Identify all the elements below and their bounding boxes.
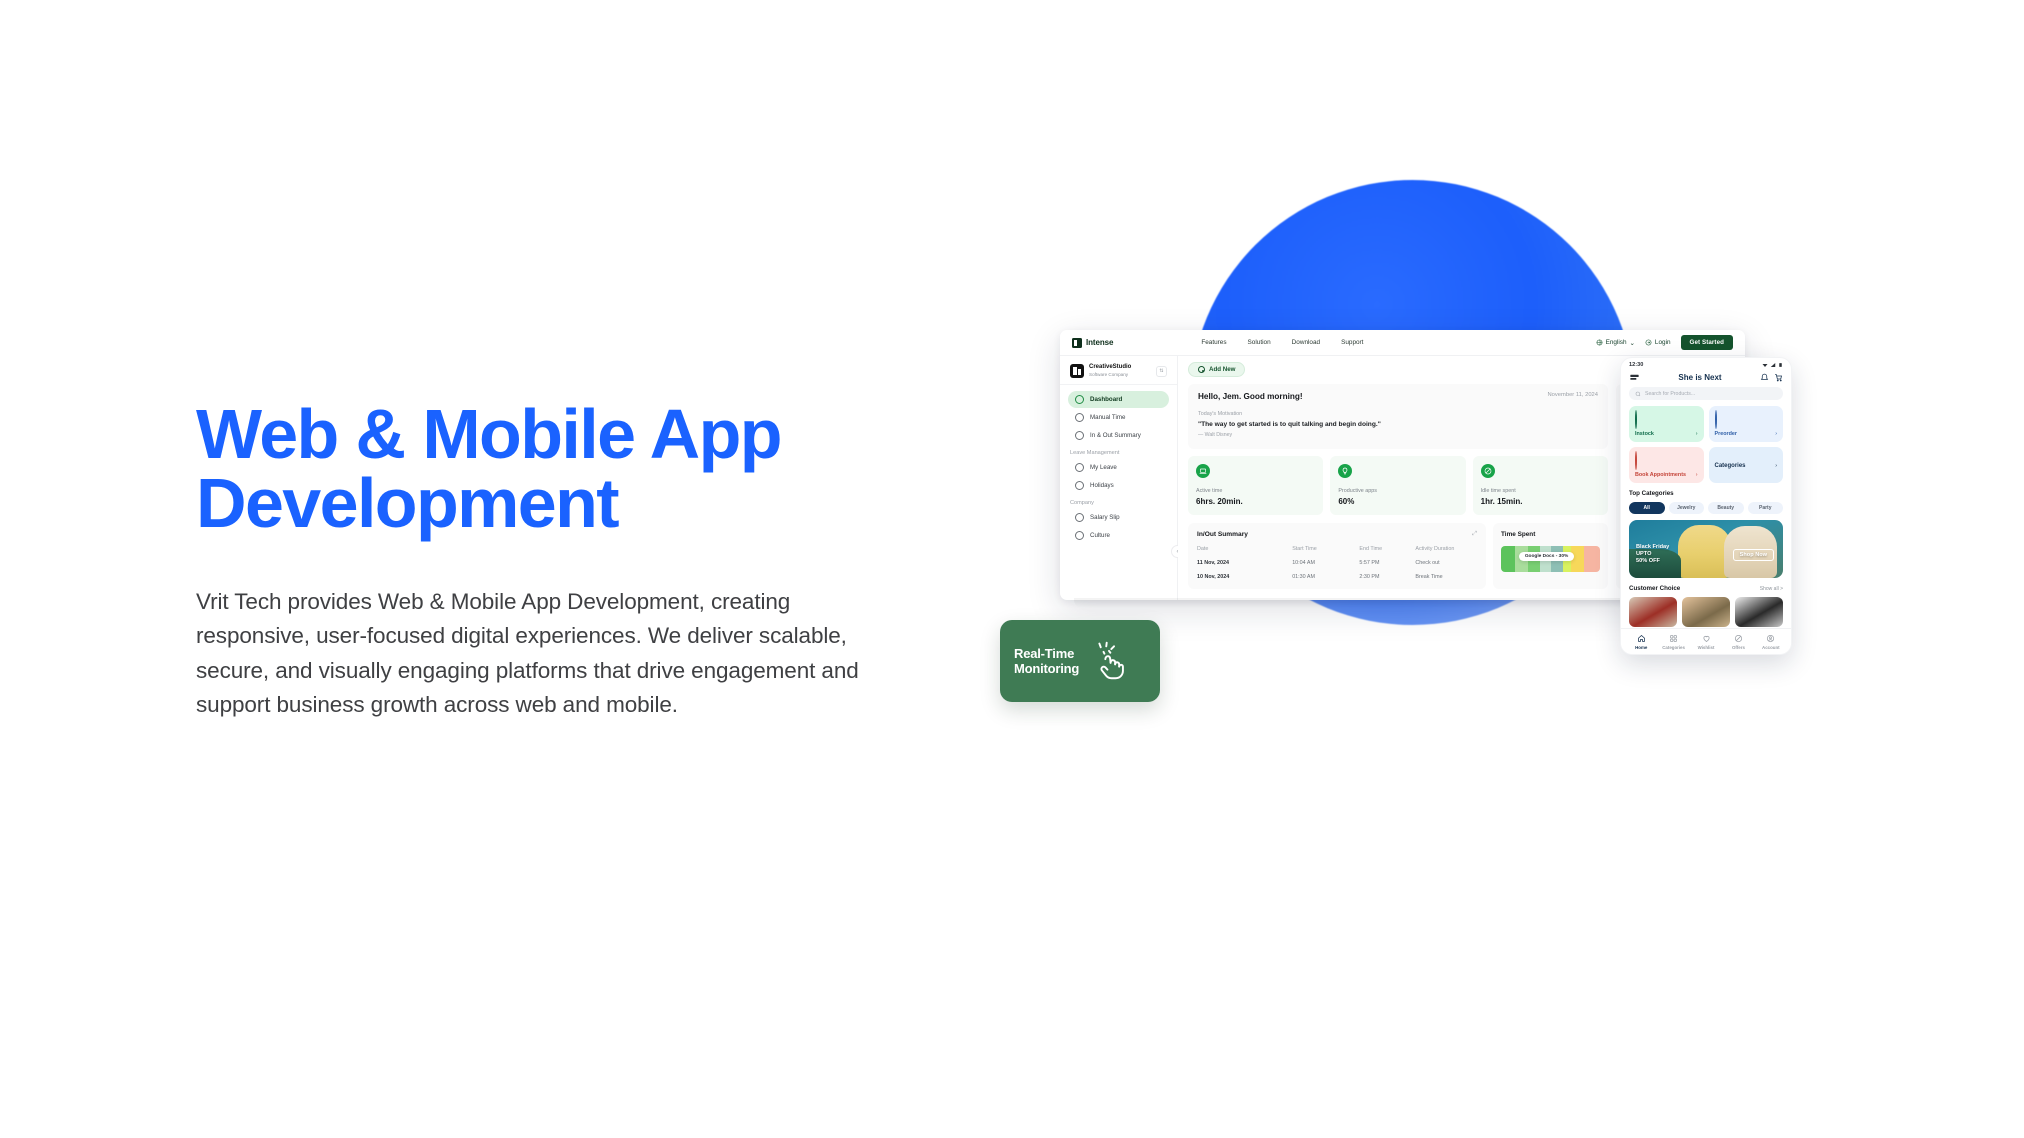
nav-link-support[interactable]: Support — [1341, 339, 1363, 346]
expand-icon[interactable]: ⤢ — [1472, 531, 1477, 538]
home-icon — [1637, 634, 1646, 643]
sidebar-item-manual-time[interactable]: Manual Time — [1068, 409, 1169, 426]
tile-categories[interactable]: Categories › — [1709, 447, 1784, 483]
chip-jewelry[interactable]: Jewelry — [1669, 502, 1705, 514]
sidebar-item-dashboard[interactable]: Dashboard — [1068, 391, 1169, 408]
globe-icon — [1075, 481, 1084, 490]
wifi-icon — [1762, 362, 1768, 368]
time-spent-segment-7 — [1584, 546, 1600, 572]
phone-status-bar: 12:30 — [1621, 358, 1791, 370]
cell-end-time: 5:57 PM — [1359, 560, 1415, 566]
customer-choice-title: Customer Choice — [1629, 585, 1680, 592]
shop-now-button[interactable]: Shop Now — [1733, 549, 1774, 561]
time-spent-title: Time Spent — [1501, 531, 1600, 538]
cell-start-time: 01:30 AM — [1292, 574, 1359, 580]
chevron-right-icon: › — [1775, 463, 1777, 469]
time-spent-segment-0 — [1501, 546, 1515, 572]
phone-app-header: She is Next — [1621, 370, 1791, 387]
chevron-right-icon: › — [1775, 431, 1777, 437]
sidebar-item-label: Holidays — [1090, 482, 1114, 489]
column-end-time: End Time — [1359, 546, 1415, 552]
pause-icon — [1481, 464, 1495, 478]
metric-value: 6hrs. 20min. — [1196, 497, 1315, 506]
sidebar-item-label: In & Out Summary — [1090, 432, 1141, 439]
sidebar-group-company: Company — [1070, 500, 1169, 506]
chip-all[interactable]: All — [1629, 502, 1665, 514]
page-root: Web & Mobile App Development Vrit Tech p… — [0, 0, 2024, 1138]
cell-start-time: 10:04 AM — [1292, 560, 1359, 566]
cell-activity: Check out — [1415, 560, 1477, 566]
cell-activity: Break Time — [1415, 574, 1477, 580]
search-input[interactable]: Search for Products... — [1629, 387, 1783, 400]
divider — [1060, 384, 1177, 385]
greeting-card: Hello, Jem. Good morning! November 11, 2… — [1188, 384, 1608, 449]
greeting-title: Hello, Jem. Good morning! — [1198, 392, 1303, 401]
cell-date: 11 Nov, 2024 — [1197, 560, 1292, 566]
dashboard-left-column: Hello, Jem. Good morning! November 11, 2… — [1188, 384, 1608, 589]
page-title: Web & Mobile App Development — [196, 400, 956, 537]
globe-icon — [1596, 339, 1603, 346]
org-name: CreativeStudio — [1089, 364, 1131, 372]
metric-label: Idle time spent — [1481, 488, 1600, 494]
nav-item-account[interactable]: Account — [1755, 634, 1787, 650]
greeting-date: November 11, 2024 — [1548, 392, 1599, 398]
top-categories-title: Top Categories — [1621, 483, 1791, 497]
metric-card-active-time: Active time 6hrs. 20min. — [1188, 456, 1323, 515]
chevron-updown-icon[interactable]: ⇅ — [1156, 366, 1167, 377]
clock-icon — [1075, 413, 1084, 422]
plus-circle-icon — [1198, 366, 1205, 373]
add-new-label: Add New — [1209, 366, 1235, 373]
status-icons — [1762, 362, 1783, 368]
product-thumb-bag[interactable] — [1629, 597, 1677, 627]
metric-label: Productive apps — [1338, 488, 1457, 494]
sidebar-item-my-leave[interactable]: My Leave — [1068, 459, 1169, 476]
banner-text: Black Friday UPTO 50% OFF — [1636, 544, 1669, 565]
motivation-quote: "The way to get started is to quit talki… — [1198, 421, 1598, 428]
nav-link-features[interactable]: Features — [1201, 339, 1226, 346]
nav-item-wishlist[interactable]: Wishlist — [1690, 634, 1722, 650]
battery-icon — [1778, 362, 1783, 368]
column-date: Date — [1197, 546, 1292, 552]
login-button[interactable]: Login — [1645, 339, 1671, 346]
nav-right: English ⌄ Login Get Started — [1596, 335, 1733, 350]
metric-cards: Active time 6hrs. 20min. Productive apps… — [1188, 456, 1608, 515]
hero-visual: Intense Features Solution Download Suppo… — [1060, 150, 1980, 870]
laptop-icon — [1196, 464, 1210, 478]
brand-name: Intense — [1086, 338, 1113, 347]
calendar-icon — [1075, 513, 1084, 522]
badge-line-1: Real-Time — [1014, 646, 1074, 661]
hero-copy: Web & Mobile App Development Vrit Tech p… — [196, 400, 956, 722]
cell-end-time: 2:30 PM — [1359, 574, 1415, 580]
dashboard-lower-row: In/Out Summary ⤢ Date Start Time End Tim… — [1188, 523, 1608, 589]
tile-instock[interactable]: Instock › — [1629, 406, 1704, 442]
nav-label: Home — [1635, 645, 1647, 650]
tile-label: Preorder — [1715, 431, 1737, 437]
chevron-down-icon: ⌄ — [1630, 339, 1635, 347]
quick-action-tiles: Instock › Preorder › Book Appointments ›… — [1621, 400, 1791, 483]
banner-line-2: UPTO — [1636, 551, 1651, 557]
table-row: 10 Nov, 2024 01:30 AM 2:30 PM Break Time — [1197, 574, 1477, 580]
nav-link-download[interactable]: Download — [1292, 339, 1320, 346]
tile-book-appointments[interactable]: Book Appointments › — [1629, 447, 1704, 483]
sidebar-item-label: Culture — [1090, 532, 1110, 539]
banner-line-3: 50% OFF — [1636, 558, 1660, 564]
time-spent-card: Time Spent Google Docs - 30% — [1493, 523, 1608, 589]
column-start-time: Start Time — [1292, 546, 1359, 552]
language-selector[interactable]: English ⌄ — [1596, 339, 1635, 347]
sidebar-item-label: Salary Slip — [1090, 514, 1120, 521]
product-thumb-earring[interactable] — [1682, 597, 1730, 627]
globe-icon — [1075, 531, 1084, 540]
metric-card-productive-apps: Productive apps 60% — [1330, 456, 1465, 515]
search-placeholder: Search for Products... — [1645, 391, 1695, 397]
table-header-row: Date Start Time End Time Activity Durati… — [1197, 546, 1477, 552]
login-label: Login — [1655, 339, 1671, 346]
in-out-title: In/Out Summary — [1197, 531, 1248, 538]
org-logo-icon — [1070, 364, 1084, 378]
metric-card-idle-time: Idle time spent 1hr. 15min. — [1473, 456, 1608, 515]
motivation-author: — Walt Disney — [1198, 432, 1598, 438]
menu-logo-icon[interactable] — [1629, 372, 1640, 383]
cart-icon[interactable] — [1774, 373, 1783, 382]
hero-title-line-1: Web & Mobile App — [196, 395, 781, 473]
dashboard-sidebar: CreativeStudio Software Company ⇅ Dashbo… — [1060, 356, 1178, 600]
sidebar-group-leave: Leave Management — [1070, 450, 1169, 456]
sidebar-item-holidays[interactable]: Holidays — [1068, 477, 1169, 494]
time-spent-tooltip: Google Docs - 30% — [1519, 552, 1574, 561]
product-thumb-dress[interactable] — [1735, 597, 1783, 627]
nav-item-categories[interactable]: Categories — [1657, 634, 1689, 650]
add-new-button[interactable]: Add New — [1188, 362, 1245, 377]
hero-description: Vrit Tech provides Web & Mobile App Deve… — [196, 585, 896, 722]
user-check-icon — [1075, 431, 1084, 440]
org-switcher[interactable]: CreativeStudio Software Company ⇅ — [1068, 362, 1169, 384]
sidebar-item-culture[interactable]: Culture — [1068, 527, 1169, 544]
sidebar-item-in-out-summary[interactable]: In & Out Summary — [1068, 427, 1169, 444]
tile-label: Book Appointments — [1635, 472, 1686, 478]
nav-item-home[interactable]: Home — [1625, 634, 1657, 650]
nav-links: Features Solution Download Support — [1201, 339, 1363, 346]
signal-icon — [1770, 362, 1776, 368]
table-row: 11 Nov, 2024 10:04 AM 5:57 PM Check out — [1197, 560, 1477, 566]
bulb-icon — [1338, 464, 1352, 478]
customer-choice-header: Customer Choice Show all > — [1621, 578, 1791, 592]
heart-icon — [1702, 634, 1711, 643]
motivation-label: Today's Motivation — [1198, 411, 1598, 417]
nav-label: Offers — [1732, 645, 1745, 650]
bottom-navigation: Home Categories Wishlist Offers Account — [1621, 628, 1791, 654]
tile-label: Categories — [1715, 463, 1746, 469]
dashboard-navbar: Intense Features Solution Download Suppo… — [1060, 330, 1745, 356]
get-started-button[interactable]: Get Started — [1681, 335, 1733, 350]
user-icon — [1766, 634, 1775, 643]
org-subtitle: Software Company — [1089, 372, 1131, 378]
search-icon — [1635, 391, 1641, 397]
phone-header-icons — [1760, 373, 1783, 382]
sidebar-item-label: Dashboard — [1090, 396, 1122, 403]
hero-title-line-2: Development — [196, 469, 956, 538]
cell-date: 10 Nov, 2024 — [1197, 574, 1292, 580]
app-title: She is Next — [1678, 373, 1721, 382]
metric-value: 60% — [1338, 497, 1457, 506]
tile-preorder[interactable]: Preorder › — [1709, 406, 1784, 442]
category-chips: All Jewelry Beauty Party — [1621, 497, 1791, 514]
login-icon — [1645, 339, 1652, 346]
real-time-monitoring-badge: Real-Time Monitoring — [1000, 620, 1160, 702]
real-time-monitoring-label: Real-Time Monitoring — [1014, 646, 1079, 677]
nav-link-solution[interactable]: Solution — [1248, 339, 1271, 346]
sidebar-item-label: Manual Time — [1090, 414, 1125, 421]
mobile-app-mockup: 12:30 She is Next Search for Products... — [1620, 357, 1792, 655]
sidebar-item-label: My Leave — [1090, 464, 1117, 471]
banner-model-1 — [1678, 525, 1730, 578]
home-icon — [1075, 395, 1084, 404]
show-all-link[interactable]: Show all > — [1760, 586, 1783, 592]
banner-line-1: Black Friday — [1636, 544, 1669, 550]
badge-line-2: Monitoring — [1014, 661, 1079, 676]
check-circle-icon — [1635, 410, 1637, 429]
nav-label: Wishlist — [1698, 645, 1715, 650]
offer-icon — [1734, 634, 1743, 643]
nav-item-offers[interactable]: Offers — [1722, 634, 1754, 650]
sidebar-item-salary-slip[interactable]: Salary Slip — [1068, 509, 1169, 526]
language-label: English — [1606, 339, 1627, 346]
chevron-right-icon: › — [1696, 472, 1698, 478]
brand[interactable]: Intense — [1072, 338, 1113, 348]
tile-label: Instock — [1635, 431, 1654, 437]
brand-logo-icon — [1072, 338, 1082, 348]
calendar-icon — [1075, 463, 1084, 472]
in-out-summary-card: In/Out Summary ⤢ Date Start Time End Tim… — [1188, 523, 1486, 589]
promo-banner[interactable]: Black Friday UPTO 50% OFF Shop Now — [1629, 520, 1783, 578]
nav-label: Account — [1762, 645, 1780, 650]
calendar-icon — [1635, 451, 1637, 470]
nav-label: Categories — [1662, 645, 1685, 650]
chip-beauty[interactable]: Beauty — [1708, 502, 1744, 514]
box-icon — [1715, 410, 1717, 429]
bell-icon[interactable] — [1760, 373, 1769, 382]
snapping-fingers-icon — [1087, 639, 1131, 683]
grid-icon — [1669, 634, 1678, 643]
chevron-right-icon: › — [1696, 431, 1698, 437]
metric-value: 1hr. 15min. — [1481, 497, 1600, 506]
chip-party[interactable]: Party — [1748, 502, 1784, 514]
time-spent-bar: Google Docs - 30% — [1501, 546, 1600, 572]
status-time: 12:30 — [1629, 362, 1643, 368]
customer-choice-items — [1621, 592, 1791, 627]
metric-label: Active time — [1196, 488, 1315, 494]
column-activity-duration: Activity Duration — [1415, 546, 1477, 552]
